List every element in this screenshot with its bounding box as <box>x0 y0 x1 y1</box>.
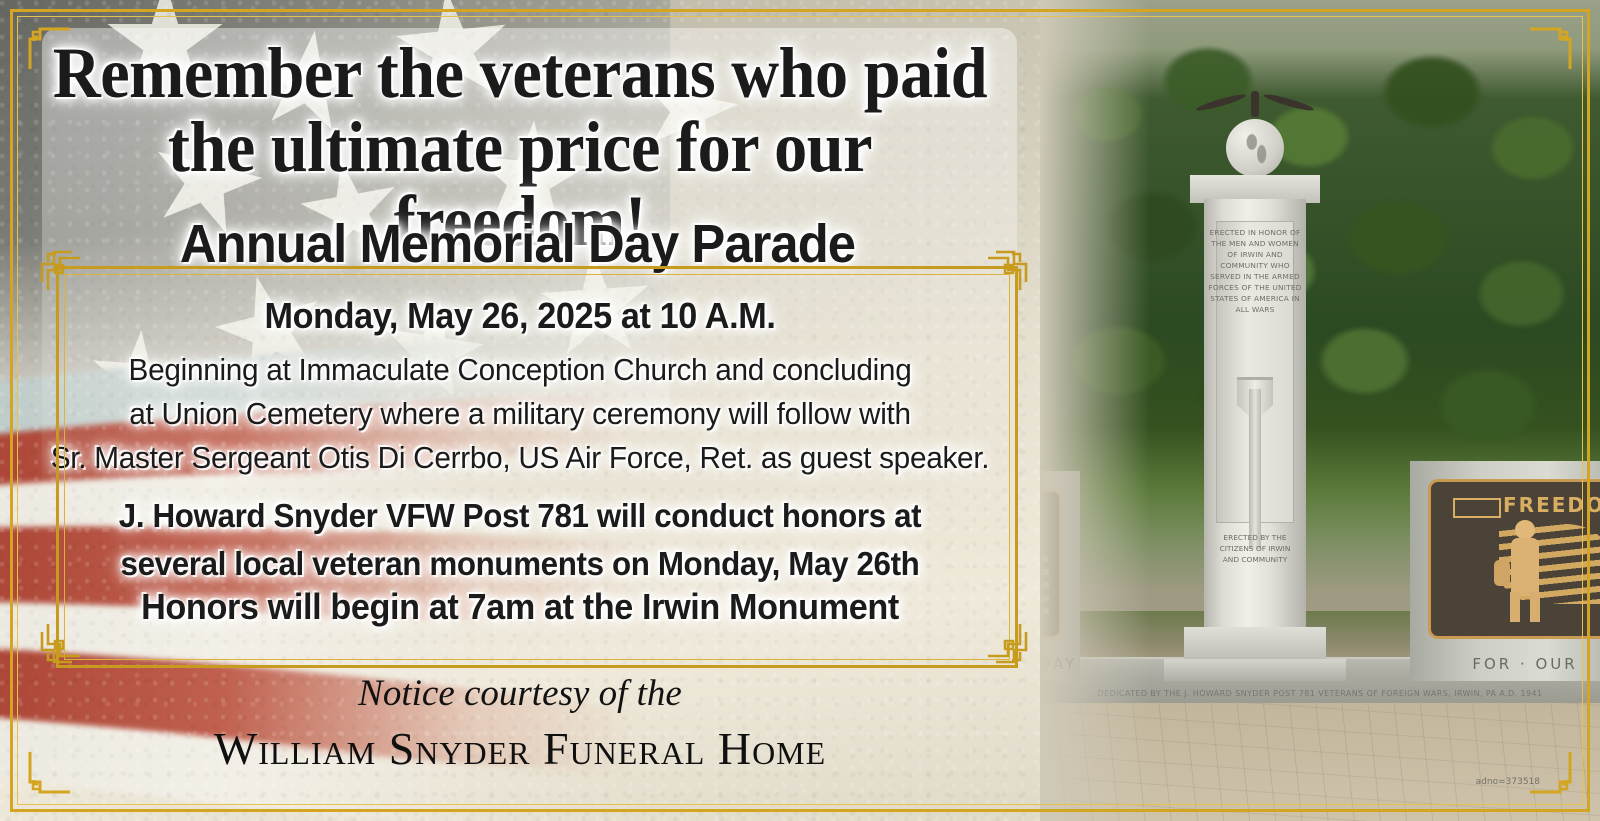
description-line-3: Sr. Master Sergeant Otis Di Cerrbo, US A… <box>21 436 1019 480</box>
event-description: Beginning at Immaculate Conception Churc… <box>21 348 1019 480</box>
monument-shaft: ERECTED IN HONOR OF THE MEN AND WOMEN OF… <box>1204 199 1306 629</box>
courtesy-label: Notice courtesy of the <box>0 672 1040 716</box>
globe-sculpture <box>1226 119 1284 177</box>
memorial-day-parade-ad: DEDICATED BY THE J. HOWARD SNYDER POST 7… <box>0 0 1600 821</box>
description-line-1: Beginning at Immaculate Conception Churc… <box>21 348 1019 392</box>
right-bronze-plaque: FREEDOM <box>1428 479 1600 639</box>
memorial-photo: DEDICATED BY THE J. HOWARD SNYDER POST 7… <box>1040 0 1600 821</box>
vfw-honors-line-2: several local veteran monuments on Monda… <box>26 540 1014 588</box>
sponsor-name: William Snyder Funeral Home <box>0 718 1040 780</box>
right-pedestal: FREEDOM FOR · OUR <box>1410 461 1600 681</box>
vfw-honors-line-1: J. Howard Snyder VFW Post 781 will condu… <box>26 492 1014 540</box>
honors-start-notice: Honors will begin at 7am at the Irwin Mo… <box>26 585 1014 629</box>
monument-base <box>1184 627 1326 661</box>
monument-inscription: ERECTED IN HONOR OF THE MEN AND WOMEN OF… <box>1208 227 1302 315</box>
headline-line-1: Remember the veterans who paid <box>42 36 999 110</box>
right-pedestal-text: FOR · OUR <box>1410 655 1600 673</box>
monument-lower-inscription: ERECTED BY THE CITIZENS OF IRWIN AND COM… <box>1216 532 1294 565</box>
sword-icon <box>1249 389 1261 549</box>
right-plaque-soldier-icon <box>1502 520 1548 624</box>
event-title: Annual Memorial Day Parade <box>31 215 1004 273</box>
photo-left-fade <box>1040 0 1150 821</box>
right-plaque-banner-text: FREEDOM <box>1503 493 1600 517</box>
description-line-2: at Union Cemetery where a military cerem… <box>21 392 1019 436</box>
irwin-monument: ERECTED IN HONOR OF THE MEN AND WOMEN OF… <box>1190 121 1320 681</box>
ad-code: adno=373518 <box>1476 777 1540 787</box>
right-plaque-banner: FREEDOM <box>1453 494 1600 520</box>
monument-plinth <box>1164 659 1346 681</box>
event-datetime: Monday, May 26, 2025 at 10 A.M. <box>26 296 1014 336</box>
banner-ribbon-icon <box>1453 498 1501 518</box>
vfw-honors-notice: J. Howard Snyder VFW Post 781 will condu… <box>26 492 1014 588</box>
